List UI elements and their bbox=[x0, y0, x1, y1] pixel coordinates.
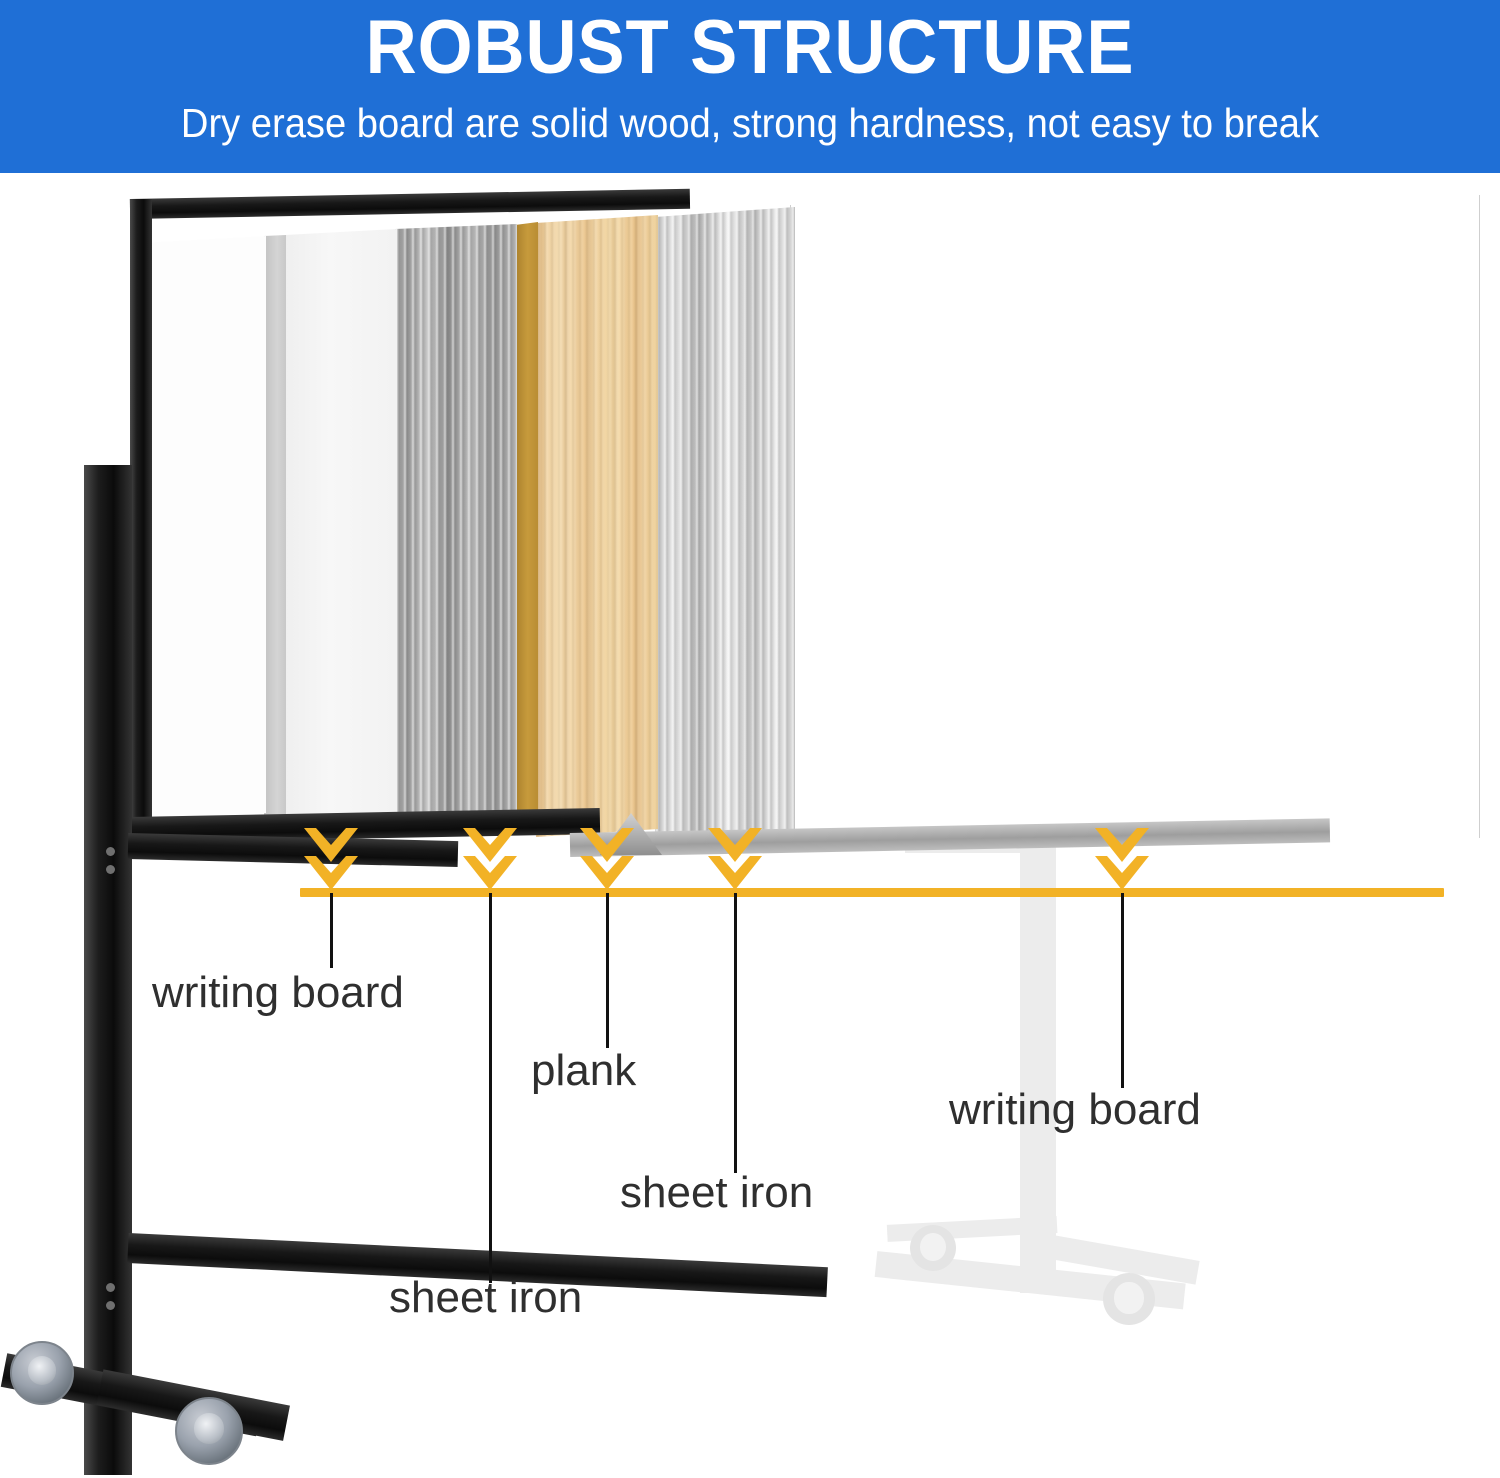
ghost-caster-left bbox=[910, 1225, 956, 1271]
product-illustration: writing board plank writing board sheet … bbox=[0, 173, 1500, 1478]
double-chevron-down-icon bbox=[580, 856, 634, 890]
marker-sheet-iron-left[interactable] bbox=[463, 828, 517, 892]
double-chevron-down-icon bbox=[708, 856, 762, 890]
infographic-canvas: ROBUST STRUCTURE Dry erase board are sol… bbox=[0, 0, 1500, 1478]
double-chevron-down-icon bbox=[463, 856, 517, 890]
frame-left-rail bbox=[130, 199, 152, 839]
layer-sheet-iron-right bbox=[655, 193, 795, 853]
marker-sheet-iron-right[interactable] bbox=[708, 828, 762, 892]
layer-writing-board-back bbox=[790, 193, 1480, 853]
bolt-upper bbox=[106, 847, 115, 856]
header-banner: ROBUST STRUCTURE Dry erase board are sol… bbox=[0, 0, 1500, 173]
layer-writing-board-panel bbox=[285, 193, 397, 853]
bolt-base-lower bbox=[106, 1301, 115, 1310]
steel-brush-texture-right bbox=[655, 193, 795, 853]
layer-plank bbox=[536, 193, 658, 853]
layer-wood-edge-band bbox=[515, 193, 538, 853]
label-writing-board-left: writing board bbox=[152, 968, 404, 1018]
leader-sheet-iron-left bbox=[489, 893, 492, 1283]
bolt-lower bbox=[106, 865, 115, 874]
caster-hub bbox=[28, 1356, 57, 1385]
layer-writing-board-front bbox=[140, 193, 266, 853]
leader-writing-board-left bbox=[330, 893, 333, 968]
leader-sheet-iron-right bbox=[734, 893, 737, 1173]
caster-front-left bbox=[10, 1341, 74, 1405]
label-plank: plank bbox=[531, 1046, 636, 1096]
label-writing-board-right: writing board bbox=[949, 1085, 1201, 1135]
banner-title: ROBUST STRUCTURE bbox=[53, 6, 1448, 90]
label-sheet-iron-left: sheet iron bbox=[389, 1273, 582, 1323]
label-sheet-iron-right: sheet iron bbox=[620, 1168, 813, 1218]
steel-brush-texture-left bbox=[395, 193, 517, 853]
double-chevron-down-icon bbox=[304, 856, 358, 890]
banner-subtitle: Dry erase board are solid wood, strong h… bbox=[53, 98, 1448, 148]
layer-sheet-iron-left bbox=[395, 193, 517, 853]
bolt-base-upper bbox=[106, 1283, 115, 1292]
marker-writing-board-left[interactable] bbox=[304, 828, 358, 892]
leader-plank bbox=[606, 893, 609, 1048]
caster-front-right bbox=[175, 1397, 243, 1465]
ghost-caster-right bbox=[1103, 1273, 1155, 1325]
wood-grain-fine bbox=[536, 193, 658, 853]
double-chevron-down-icon bbox=[1095, 856, 1149, 890]
layer-edge-strip bbox=[264, 193, 286, 853]
board-cross-section bbox=[128, 193, 1480, 853]
marker-writing-board-right[interactable] bbox=[1095, 828, 1149, 892]
stand-vertical-post bbox=[84, 465, 132, 1475]
caster-hub bbox=[194, 1413, 225, 1444]
leader-writing-board-right bbox=[1121, 893, 1124, 1088]
marker-plank[interactable] bbox=[580, 828, 634, 892]
